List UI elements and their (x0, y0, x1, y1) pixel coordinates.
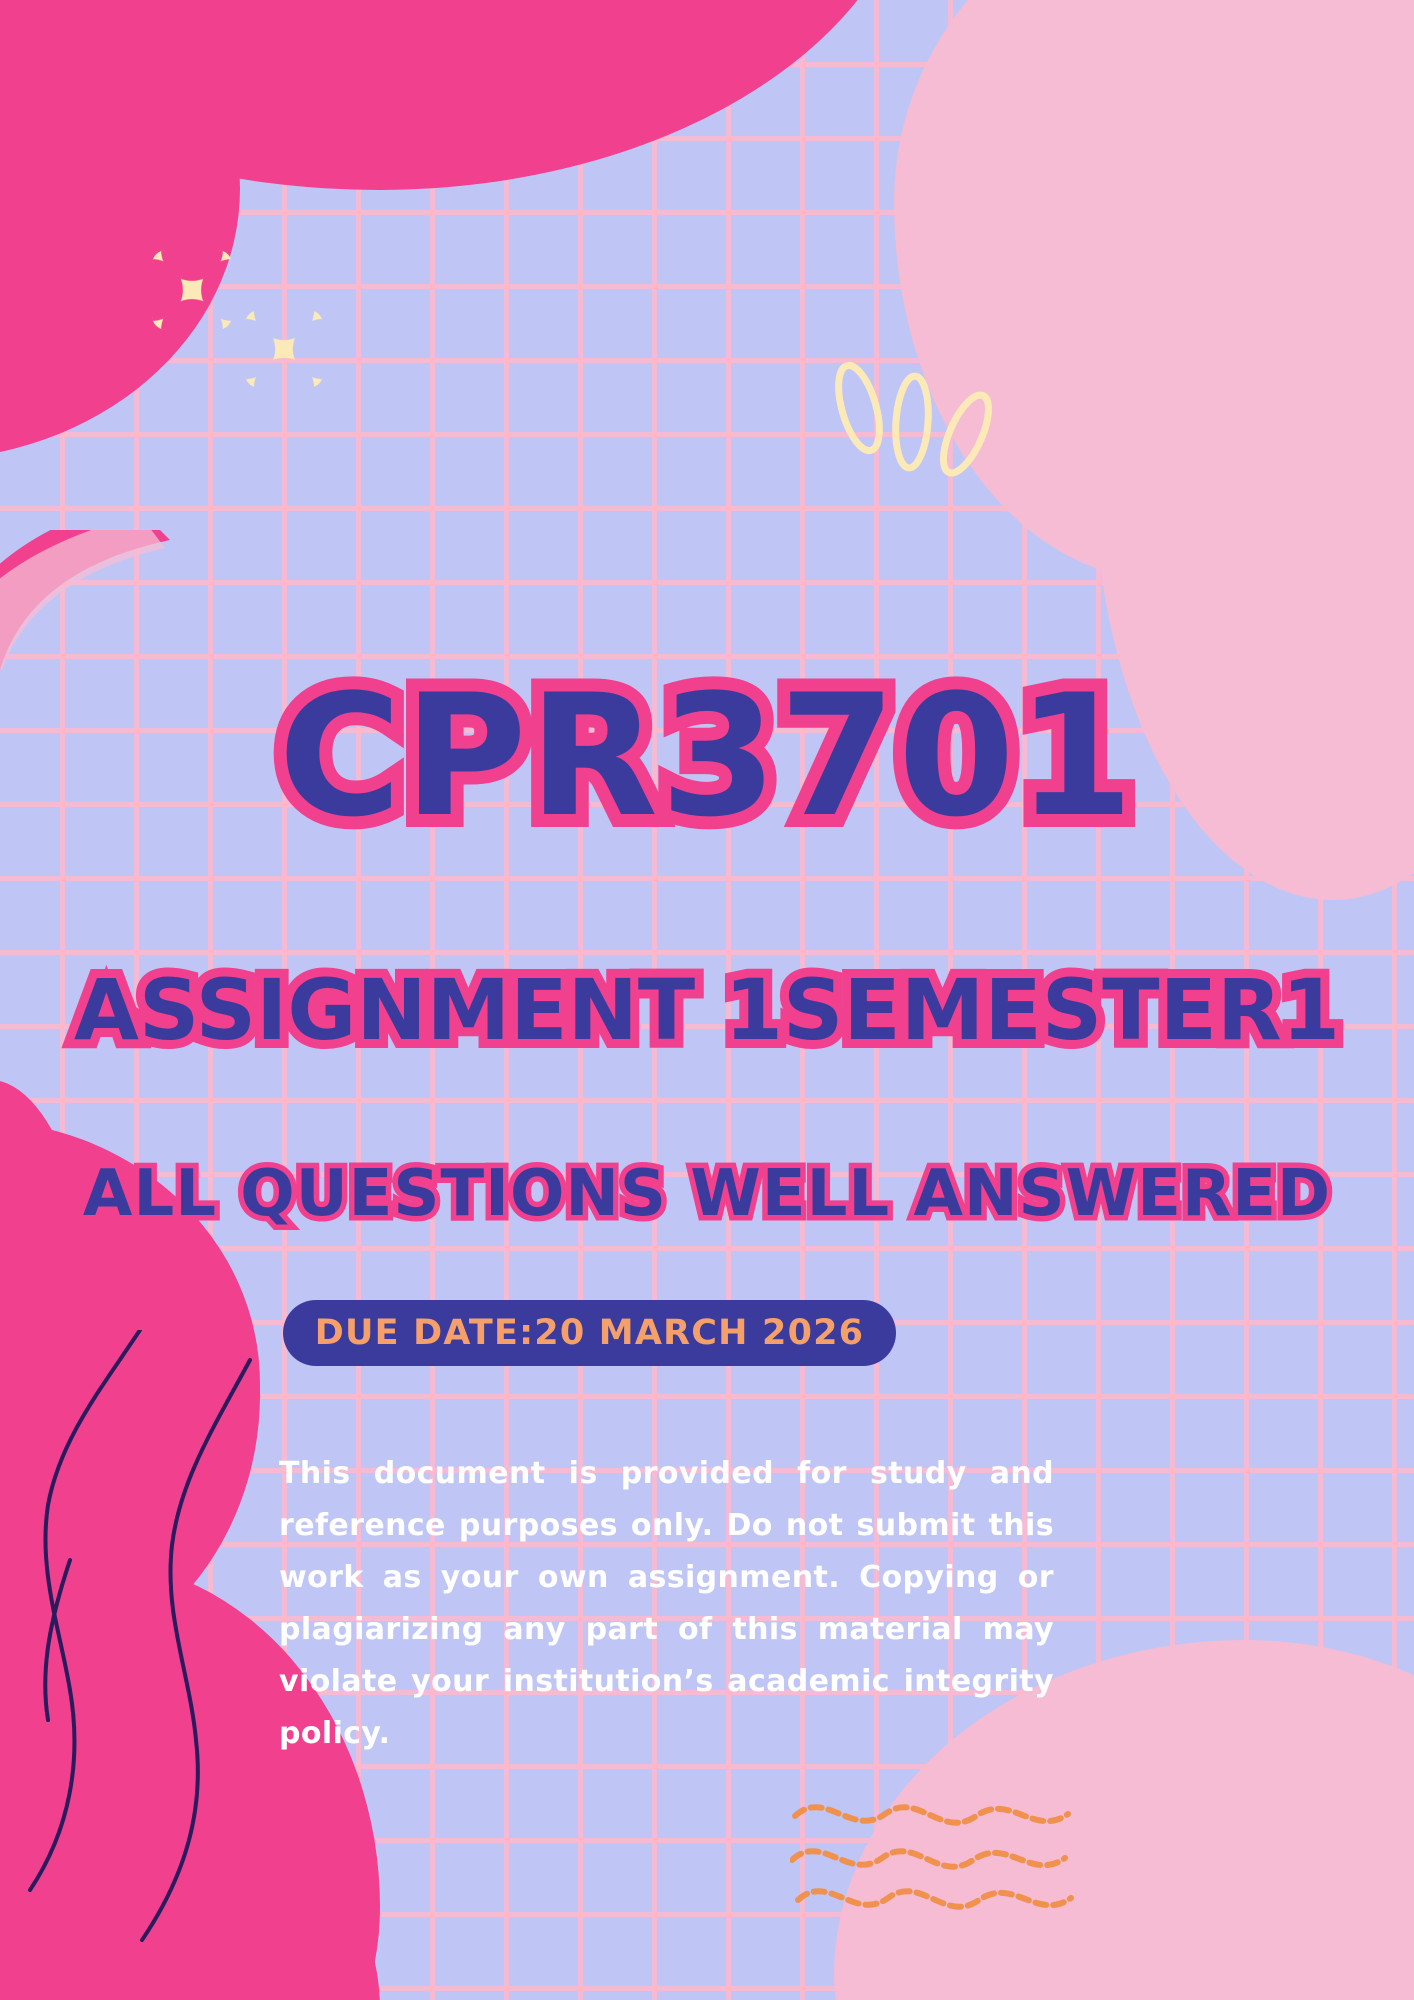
leaves-icon (834, 360, 1024, 510)
disclaimer-text: This document is provided for study and … (279, 1448, 1054, 1760)
wave-lines-icon (790, 1790, 1100, 1920)
swoosh-icon (0, 530, 270, 670)
sparkle-icon (245, 310, 323, 388)
due-date-badge: DUE DATE:20 MARCH 2026 (283, 1300, 896, 1366)
sparkle-icon (152, 250, 232, 330)
due-date-text: DUE DATE:20 MARCH 2026 (315, 1313, 865, 1353)
poster-canvas: CPR3701 ASSIGNMENT 1SEMESTER1 ALL QUESTI… (0, 0, 1414, 2000)
